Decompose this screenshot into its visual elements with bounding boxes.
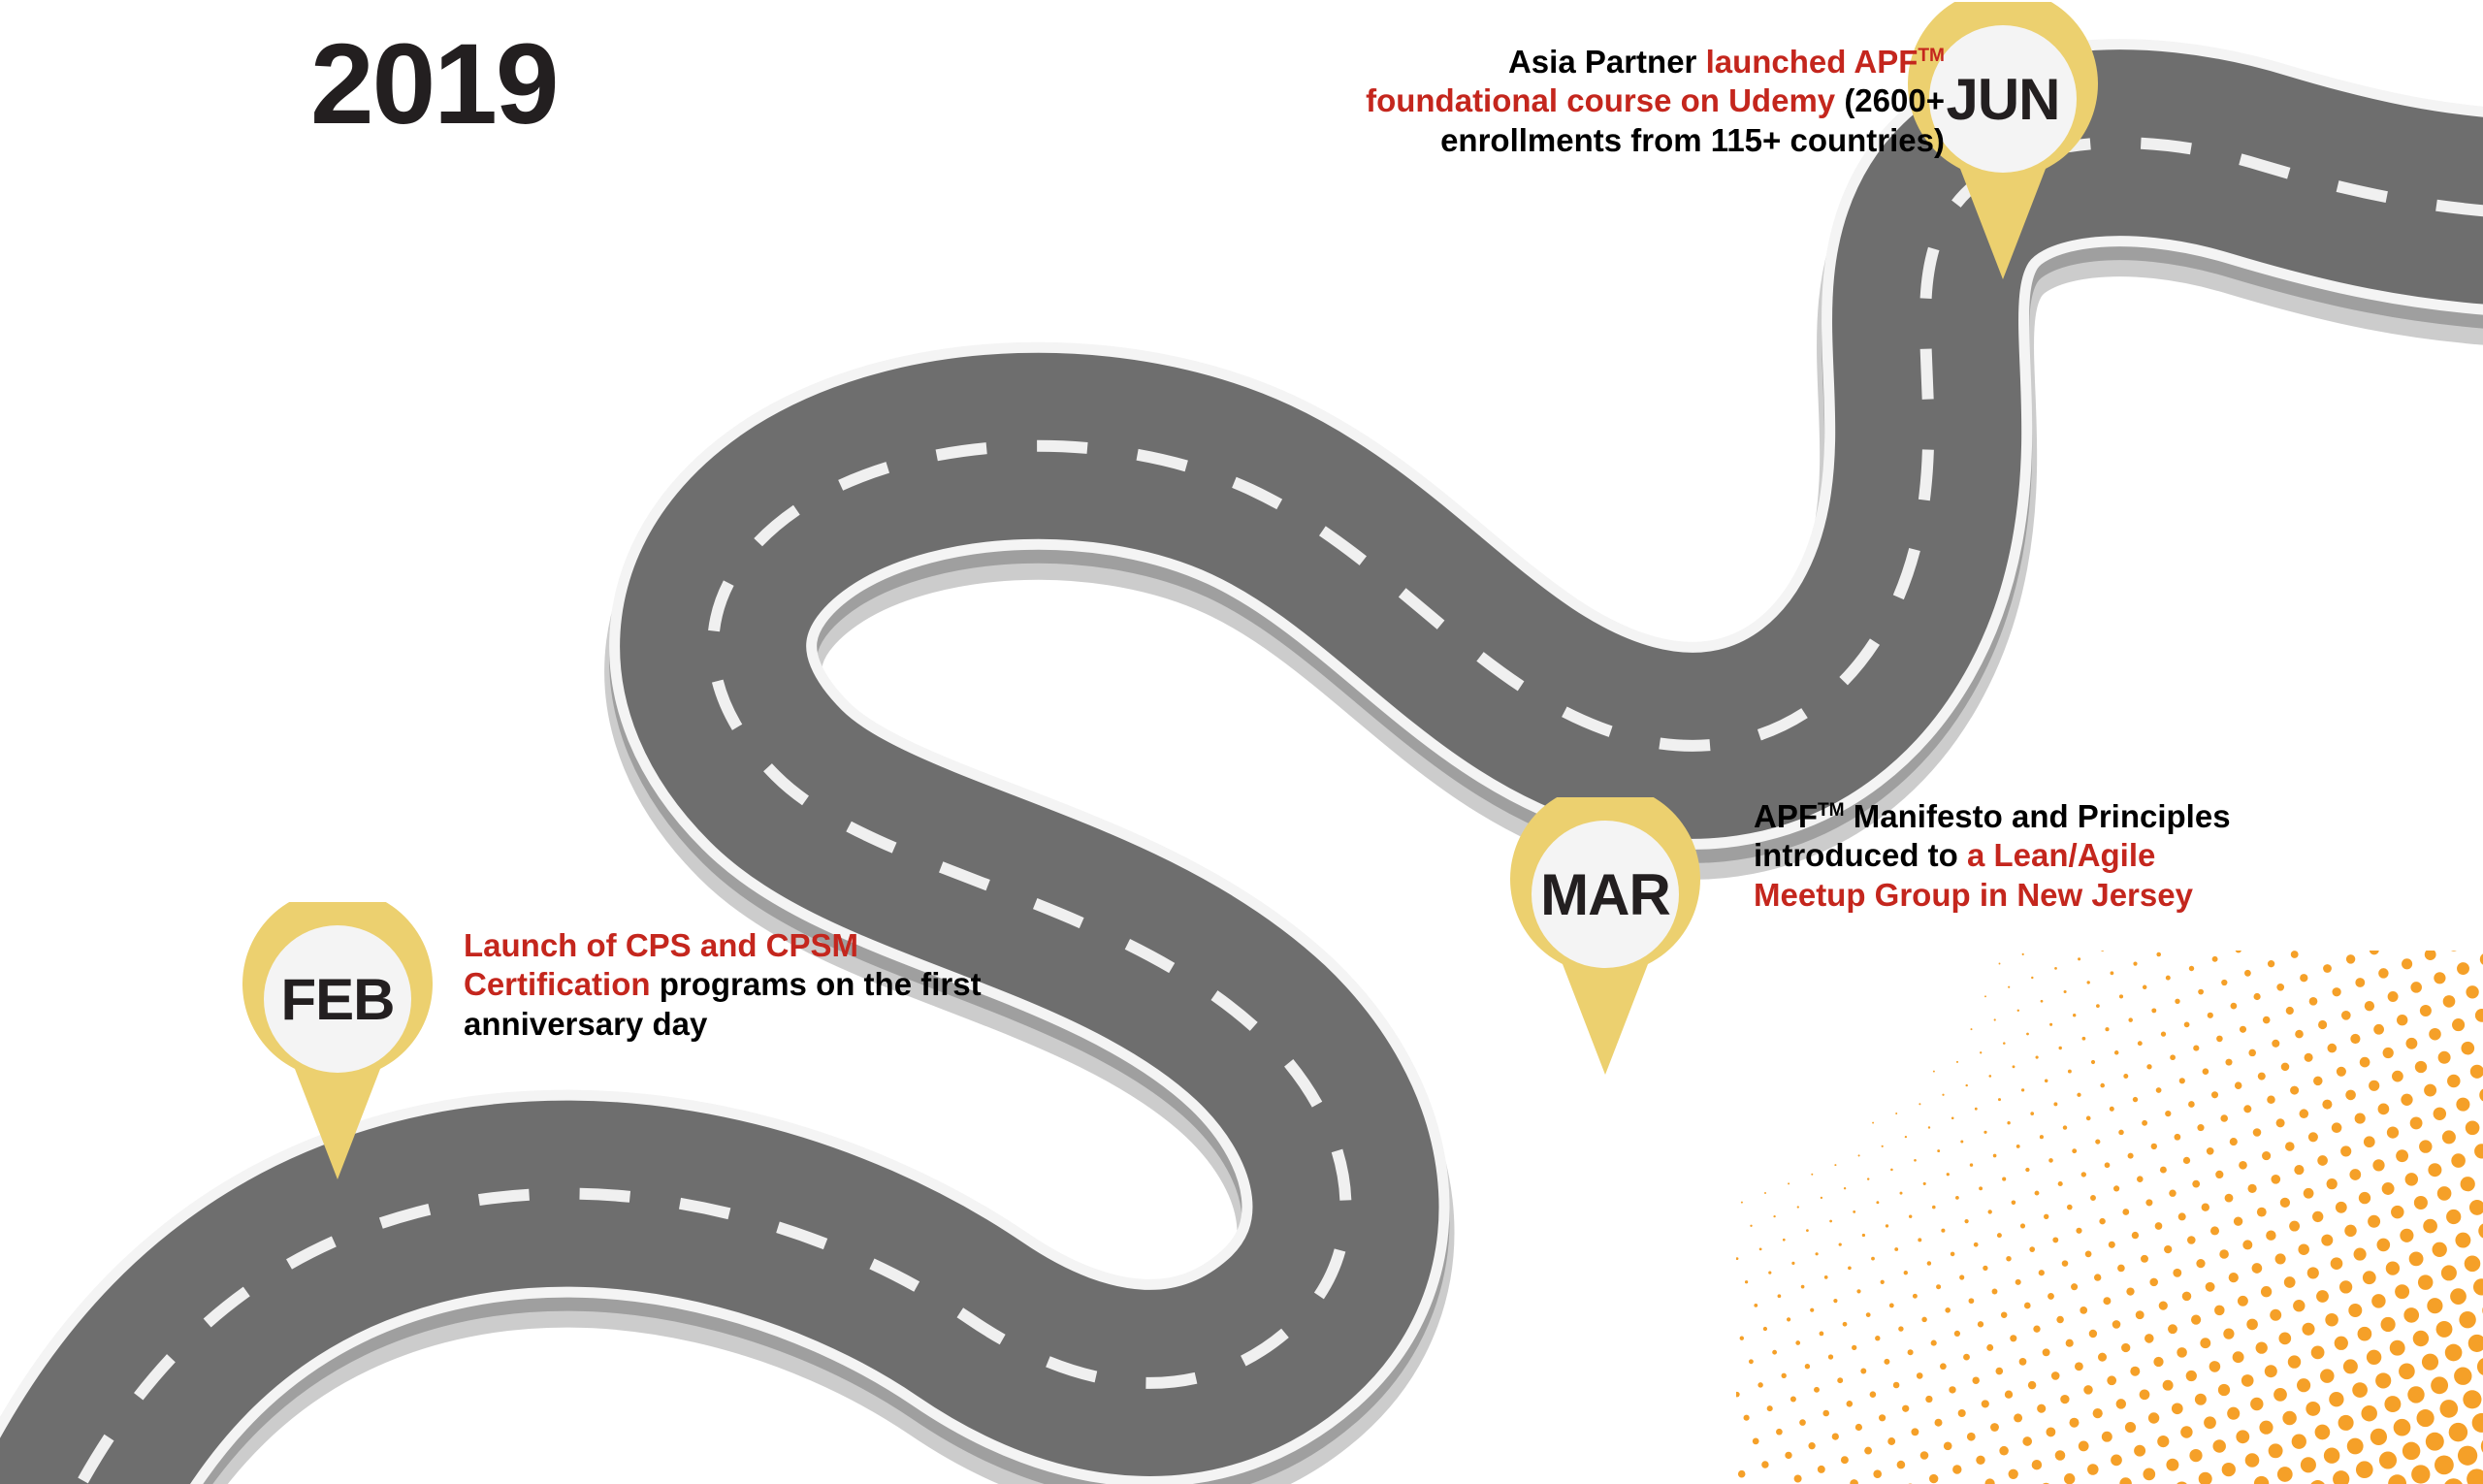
halftone-dot xyxy=(2151,1144,2157,1149)
halftone-dot xyxy=(2071,1283,2078,1290)
halftone-dot xyxy=(1931,1340,1937,1346)
halftone-dot xyxy=(2463,1390,2481,1408)
halftone-dot xyxy=(1960,1141,1963,1144)
halftone-dot xyxy=(2410,982,2422,993)
halftone-dot xyxy=(1782,1373,1787,1378)
halftone-dot xyxy=(2346,954,2355,963)
halftone-dot xyxy=(2044,1214,2048,1219)
halftone-dot xyxy=(1904,1271,1908,1274)
halftone-dot xyxy=(2017,1010,2019,1012)
halftone-dot xyxy=(2119,994,2123,998)
halftone-dot xyxy=(2262,1151,2271,1160)
halftone-dot xyxy=(2391,1206,2404,1219)
halftone-dot xyxy=(1791,1262,1794,1265)
halftone-dot xyxy=(2254,993,2261,1000)
halftone-dot xyxy=(1937,1149,1940,1152)
halftone-dot xyxy=(2210,1226,2219,1235)
halftone-dot xyxy=(2298,1243,2309,1255)
halftone-dot xyxy=(2477,1358,2483,1376)
halftone-dot xyxy=(2143,1468,2155,1481)
halftone-dot xyxy=(2013,1065,2015,1068)
halftone-dot xyxy=(2347,1438,2364,1455)
halftone-dot xyxy=(2182,1292,2192,1302)
halftone-dot xyxy=(2214,1306,2225,1316)
halftone-dot xyxy=(2128,1017,2133,1022)
halftone-dot xyxy=(1898,1326,1903,1331)
map-pin-mar-label: MAR xyxy=(1508,797,1702,991)
halftone-dot xyxy=(2425,951,2436,960)
halftone-dot xyxy=(1870,1391,1877,1398)
halftone-dot xyxy=(2467,1468,2483,1484)
halftone-dot xyxy=(2179,1078,2185,1083)
halftone-dot xyxy=(2177,1347,2187,1358)
halftone-dot xyxy=(2019,1358,2027,1366)
halftone-dot xyxy=(2332,987,2340,996)
halftone-dot xyxy=(2302,1323,2314,1336)
halftone-dot xyxy=(2352,1382,2368,1398)
halftone-dot xyxy=(1933,1071,1935,1073)
halftone-dot xyxy=(2229,1273,2239,1282)
halftone-dot xyxy=(2300,974,2307,982)
halftone-dot xyxy=(1929,1474,1938,1483)
halftone-dot xyxy=(2442,1130,2456,1144)
halftone-dot xyxy=(2236,1430,2249,1443)
halftone-dot xyxy=(2392,1071,2403,1082)
halftone-dot xyxy=(2331,1257,2343,1270)
halftone-dot xyxy=(2289,1221,2300,1232)
halftone-dot xyxy=(2266,1230,2275,1240)
halftone-dot xyxy=(2022,1436,2032,1446)
halftone-dot xyxy=(1862,1234,1865,1237)
halftone-dot xyxy=(1984,995,1986,997)
halftone-dot xyxy=(1994,1018,1996,1020)
halftone-dot xyxy=(1764,1192,1766,1194)
halftone-dot xyxy=(2379,1451,2397,1468)
halftone-dot xyxy=(2344,1225,2356,1237)
halftone-dot xyxy=(1860,1369,1866,1374)
halftone-dot xyxy=(1913,1294,1918,1299)
halftone-dot xyxy=(2339,1280,2352,1293)
halftone-dot xyxy=(2173,1269,2181,1277)
halftone-dot xyxy=(2157,1436,2169,1447)
halftone-dot xyxy=(2468,1335,2483,1352)
halftone-dot xyxy=(2325,1313,2338,1327)
halftone-dot xyxy=(2085,1251,2092,1258)
halftone-dot xyxy=(2132,1232,2139,1239)
halftone-dot xyxy=(1969,1298,1975,1304)
halftone-dot xyxy=(2230,1138,2238,1145)
halftone-dot xyxy=(1871,1257,1875,1261)
map-pin-mar[interactable]: MAR xyxy=(1508,797,1702,1079)
halftone-dot xyxy=(2029,1246,2035,1252)
halftone-dot xyxy=(2178,1212,2186,1220)
halftone-dot xyxy=(2327,1178,2338,1189)
halftone-dot xyxy=(1741,1202,1743,1204)
halftone-dot xyxy=(2407,1386,2424,1403)
halftone-dot xyxy=(2361,1405,2376,1421)
halftone-dot xyxy=(2207,1147,2214,1155)
halftone-dot xyxy=(2049,1023,2052,1026)
halftone-dot xyxy=(2189,1449,2202,1462)
halftone-dot xyxy=(1986,1344,1993,1351)
halftone-dot xyxy=(2048,1158,2053,1163)
halftone-dot xyxy=(2007,1121,2010,1124)
halftone-dot xyxy=(2378,968,2388,978)
halftone-dot xyxy=(1914,1159,1917,1162)
halftone-dot xyxy=(2054,967,2057,970)
halftone-dot xyxy=(2423,1219,2437,1234)
halftone-dot xyxy=(2254,1476,2269,1484)
halftone-dot xyxy=(2142,1120,2147,1126)
halftone-dot xyxy=(2160,1167,2167,1174)
halftone-dot xyxy=(2172,1403,2183,1414)
halftone-dot xyxy=(2184,1022,2190,1028)
halftone-dot xyxy=(1828,1354,1833,1359)
halftone-dot xyxy=(2192,1180,2200,1188)
halftone-dot xyxy=(2199,1472,2212,1484)
halftone-dot xyxy=(2316,1290,2329,1303)
halftone-dot xyxy=(2449,1423,2467,1441)
halftone-dot xyxy=(2429,1028,2441,1041)
halftone-dot xyxy=(2031,977,2033,979)
page-title: 2019 xyxy=(310,27,558,142)
halftone-dot xyxy=(2439,1400,2458,1418)
halftone-dot xyxy=(2076,1228,2081,1234)
halftone-dot xyxy=(2475,1009,2483,1022)
halftone-dot xyxy=(2073,1014,2076,1016)
halftone-dot xyxy=(1876,1201,1879,1204)
halftone-dot xyxy=(2409,1252,2424,1267)
halftone-dot xyxy=(1992,1289,1998,1295)
halftone-dot xyxy=(1944,1441,1952,1450)
halftone-dot xyxy=(2431,1376,2448,1394)
halftone-dot xyxy=(2273,1388,2287,1402)
halftone-dot xyxy=(1978,1321,1983,1327)
halftone-dot xyxy=(2333,1470,2349,1484)
halftone-dot xyxy=(2276,984,2284,991)
halftone-dot xyxy=(1999,1446,2009,1456)
halftone-dot xyxy=(2121,1343,2130,1352)
halftone-dot xyxy=(2212,956,2218,962)
halftone-dot xyxy=(2271,1175,2280,1184)
halftone-dot xyxy=(2240,1026,2246,1033)
halftone-dot xyxy=(2169,1189,2176,1196)
halftone-dot xyxy=(2136,1310,2144,1319)
halftone-dot xyxy=(2419,1140,2432,1152)
halftone-dot xyxy=(2223,1328,2234,1339)
halftone-dot xyxy=(2212,1439,2226,1453)
halftone-dot xyxy=(2086,1116,2091,1121)
halftone-dot xyxy=(2123,1074,2128,1079)
halftone-dot xyxy=(2064,1473,2075,1484)
halftone-dot xyxy=(2293,1300,2305,1311)
halftone-dot xyxy=(2009,1469,2018,1479)
halftone-dot xyxy=(2275,1253,2286,1264)
halftone-dot xyxy=(1999,963,2001,965)
halftone-dot xyxy=(2203,1068,2209,1075)
halftone-dot xyxy=(1882,1145,1884,1147)
halftone-dot xyxy=(1822,1410,1829,1417)
halftone-dot xyxy=(2350,1034,2360,1044)
halftone-dot xyxy=(2058,1047,2061,1049)
halftone-dot xyxy=(2355,978,2365,987)
halftone-dot xyxy=(1908,1349,1914,1355)
halftone-dot xyxy=(2113,1185,2119,1191)
halftone-dot xyxy=(1909,1214,1912,1217)
halftone-dot xyxy=(2390,1340,2405,1356)
halftone-dot xyxy=(2371,1294,2385,1307)
halftone-dot xyxy=(2395,1284,2409,1299)
halftone-dot xyxy=(1980,1051,1982,1053)
halftone-dot xyxy=(1841,1456,1849,1464)
halftone-dot xyxy=(2372,1159,2384,1171)
halftone-dot xyxy=(2036,1056,2039,1059)
milestone-callout-feb: Launch of CPS and CPSM Certification pro… xyxy=(464,926,1007,1044)
halftone-dot xyxy=(2401,1094,2412,1106)
halftone-dot xyxy=(2081,1172,2086,1177)
halftone-dot xyxy=(1972,1376,1979,1383)
halftone-dot xyxy=(2388,1474,2406,1484)
halftone-dot xyxy=(1959,1274,1964,1279)
halftone-dot xyxy=(2364,1136,2375,1147)
halftone-dot xyxy=(2309,997,2318,1006)
halftone-dot xyxy=(2110,1107,2114,1112)
halftone-dot xyxy=(2191,1315,2201,1325)
halftone-dot xyxy=(1757,1382,1762,1387)
halftone-dot xyxy=(2183,1157,2190,1164)
halftone-dot xyxy=(2024,1303,2031,1309)
halftone-dot xyxy=(2233,1351,2244,1363)
halftone-dot xyxy=(2278,1333,2291,1345)
halftone-dot xyxy=(2434,1108,2446,1120)
halftone-dot xyxy=(2345,1090,2356,1101)
halftone-dot xyxy=(1879,1414,1886,1421)
halftone-dot xyxy=(1832,1433,1839,1439)
halftone-dot xyxy=(2146,1064,2151,1069)
halftone-dot xyxy=(2354,1248,2367,1261)
halftone-dot xyxy=(2455,1233,2470,1248)
halftone-dot xyxy=(1873,1469,1882,1478)
halftone-dot xyxy=(1919,1103,1920,1105)
halftone-dot xyxy=(1905,1136,1907,1138)
halftone-dot xyxy=(1951,1117,1954,1120)
halftone-dot xyxy=(2052,1237,2058,1242)
halftone-dot xyxy=(2137,1176,2144,1182)
milestone-callout-mar: APFTM Manifesto and Principles introduce… xyxy=(1754,797,2258,915)
halftone-dot xyxy=(1814,1387,1820,1393)
halftone-dot xyxy=(2300,1109,2309,1118)
halftone-dot xyxy=(2297,1378,2310,1392)
halftone-dot xyxy=(2227,1407,2240,1420)
halftone-dot xyxy=(1970,1163,1973,1166)
halftone-dot xyxy=(1808,1442,1815,1449)
halftone-dot xyxy=(1920,1451,1929,1460)
halftone-dot xyxy=(2090,1195,2096,1201)
halftone-dot xyxy=(2335,1337,2348,1350)
halftone-dot xyxy=(2288,1355,2301,1368)
halftone-dot xyxy=(2443,995,2456,1008)
halftone-dot xyxy=(2363,1271,2376,1284)
halftone-dot xyxy=(2175,1134,2181,1141)
halftone-dot xyxy=(2478,1223,2483,1240)
halftone-dot xyxy=(1982,1400,1989,1407)
halftone-dot xyxy=(1806,1229,1809,1232)
halftone-dot xyxy=(2417,1409,2435,1427)
halftone-dot xyxy=(2112,1320,2121,1329)
halftone-dot xyxy=(2473,1278,2483,1295)
halftone-dot xyxy=(2111,971,2114,975)
halftone-dot xyxy=(1990,1423,1999,1432)
halftone-dot xyxy=(1927,1261,1931,1265)
halftone-dot xyxy=(2063,1125,2067,1129)
halftone-dot xyxy=(2295,1030,2304,1039)
halftone-dot xyxy=(2101,951,2104,952)
halftone-dot xyxy=(2356,1461,2373,1478)
halftone-dot xyxy=(2133,962,2137,966)
halftone-dot xyxy=(2186,1371,2197,1381)
halftone-dot xyxy=(2307,1267,2319,1278)
halftone-dot xyxy=(2056,1316,2064,1324)
halftone-dot xyxy=(2469,1200,2483,1215)
halftone-dot xyxy=(2040,1135,2044,1139)
halftone-dot xyxy=(1983,1131,1986,1134)
halftone-dot xyxy=(2445,1344,2463,1362)
halftone-dot xyxy=(2068,1070,2072,1074)
halftone-dot xyxy=(2426,1433,2444,1451)
halftone-dot xyxy=(1925,1396,1932,1403)
halftone-dot xyxy=(2329,1392,2343,1406)
halftone-dot xyxy=(2098,1353,2107,1362)
halftone-dot xyxy=(1971,1028,1973,1030)
halftone-dot xyxy=(2188,1101,2195,1108)
halftone-dot xyxy=(2304,1188,2314,1199)
halftone-dot xyxy=(2026,1033,2029,1036)
callout-text-segment: TM xyxy=(1918,46,1945,66)
halftone-dot xyxy=(2277,1467,2293,1482)
halftone-dot xyxy=(2035,1191,2040,1196)
halftone-dot xyxy=(2248,1049,2256,1057)
halftone-dot xyxy=(2358,1327,2372,1341)
halftone-dot xyxy=(2180,1426,2192,1437)
halftone-dot xyxy=(2268,960,2274,967)
halftone-dot xyxy=(1917,1372,1923,1379)
halftone-dot xyxy=(2320,1369,2335,1383)
halftone-dot xyxy=(2308,1132,2318,1142)
halftone-dot xyxy=(2291,951,2299,958)
halftone-dot xyxy=(1949,1386,1955,1393)
halftone-dot xyxy=(1785,1452,1791,1459)
halftone-dot xyxy=(2168,1324,2177,1334)
halftone-dot xyxy=(1936,1284,1941,1289)
halftone-dot xyxy=(2197,1124,2204,1131)
halftone-dot xyxy=(1736,1257,1738,1260)
halftone-dot xyxy=(2324,1447,2339,1463)
halftone-dot xyxy=(1736,1392,1740,1398)
halftone-dot xyxy=(2257,1208,2267,1217)
halftone-dot xyxy=(2125,1422,2136,1433)
halftone-dot xyxy=(1738,1470,1746,1478)
halftone-dot xyxy=(2119,1477,2131,1484)
halftone-dot xyxy=(2309,1480,2326,1484)
halftone-dot xyxy=(2420,1005,2432,1016)
halftone-dot xyxy=(1976,1456,1984,1465)
halftone-dot xyxy=(1811,1174,1813,1176)
halftone-dot xyxy=(1843,1322,1848,1327)
halftone-dot xyxy=(2236,951,2241,952)
halftone-dot xyxy=(2322,1100,2332,1110)
halftone-dot xyxy=(1761,1461,1768,1468)
halftone-dot xyxy=(2457,962,2469,975)
halftone-dot xyxy=(2159,1302,2168,1310)
halftone-dot xyxy=(1749,1359,1754,1364)
halftone-dot xyxy=(2094,1274,2101,1280)
halftone-dot xyxy=(1923,1182,1926,1185)
halftone-dot-pattern xyxy=(1736,951,2483,1484)
halftone-dot xyxy=(2072,1148,2077,1153)
callout-text-segment: TM xyxy=(1818,800,1845,821)
map-pin-feb[interactable]: FEB xyxy=(241,902,435,1183)
halftone-dot xyxy=(2269,1443,2283,1458)
halftone-dot xyxy=(2021,1088,2024,1091)
halftone-dot xyxy=(2456,1098,2469,1112)
halftone-dot xyxy=(2405,1173,2418,1185)
halftone-dot xyxy=(2064,990,2067,993)
halftone-dot xyxy=(2321,1235,2333,1246)
halftone-dot xyxy=(1763,1327,1767,1331)
halftone-dot xyxy=(2193,1046,2199,1051)
halftone-dot xyxy=(2111,1455,2122,1467)
halftone-dot xyxy=(1988,1075,1991,1078)
halftone-dot xyxy=(2359,1192,2370,1204)
halftone-dot xyxy=(1778,1294,1782,1298)
halftone-dot xyxy=(2187,1236,2196,1244)
halftone-dot xyxy=(1889,1303,1894,1307)
halftone-dot xyxy=(1858,1154,1860,1156)
halftone-dot xyxy=(2397,1015,2407,1025)
halftone-dot xyxy=(1941,1229,1945,1233)
halftone-dot xyxy=(1893,1382,1900,1389)
halftone-dot xyxy=(1875,1336,1880,1340)
halftone-dot xyxy=(1768,1272,1771,1274)
halftone-dot xyxy=(1993,1154,1997,1158)
halftone-dot xyxy=(2055,1450,2066,1461)
halftone-dot xyxy=(2256,1341,2268,1353)
halftone-dot xyxy=(2387,1126,2399,1138)
halftone-dot xyxy=(2122,1209,2129,1215)
halftone-dot xyxy=(2140,1389,2150,1400)
halftone-dot xyxy=(1810,1308,1814,1312)
halftone-dot xyxy=(1773,1215,1775,1217)
halftone-dot xyxy=(2016,1145,2020,1148)
halftone-dot xyxy=(1998,1098,2001,1101)
halftone-dot xyxy=(1985,1478,1995,1484)
halftone-dot xyxy=(2317,1155,2328,1166)
halftone-dot xyxy=(2340,1145,2351,1156)
halftone-dot xyxy=(2284,1276,2296,1288)
halftone-dot xyxy=(2438,1051,2451,1064)
halftone-dot xyxy=(1794,1474,1802,1482)
halftone-dot xyxy=(2292,1435,2306,1449)
halftone-dot xyxy=(1797,1206,1799,1208)
halftone-dot xyxy=(2465,1256,2481,1273)
halftone-dot xyxy=(2080,1307,2087,1314)
halftone-dot xyxy=(1818,1466,1825,1473)
halftone-dot xyxy=(2369,1081,2379,1091)
halftone-dot xyxy=(2138,1041,2143,1046)
halftone-dot xyxy=(2396,1149,2408,1162)
halftone-dot xyxy=(1790,1397,1796,1403)
halftone-dot xyxy=(2458,1446,2477,1466)
